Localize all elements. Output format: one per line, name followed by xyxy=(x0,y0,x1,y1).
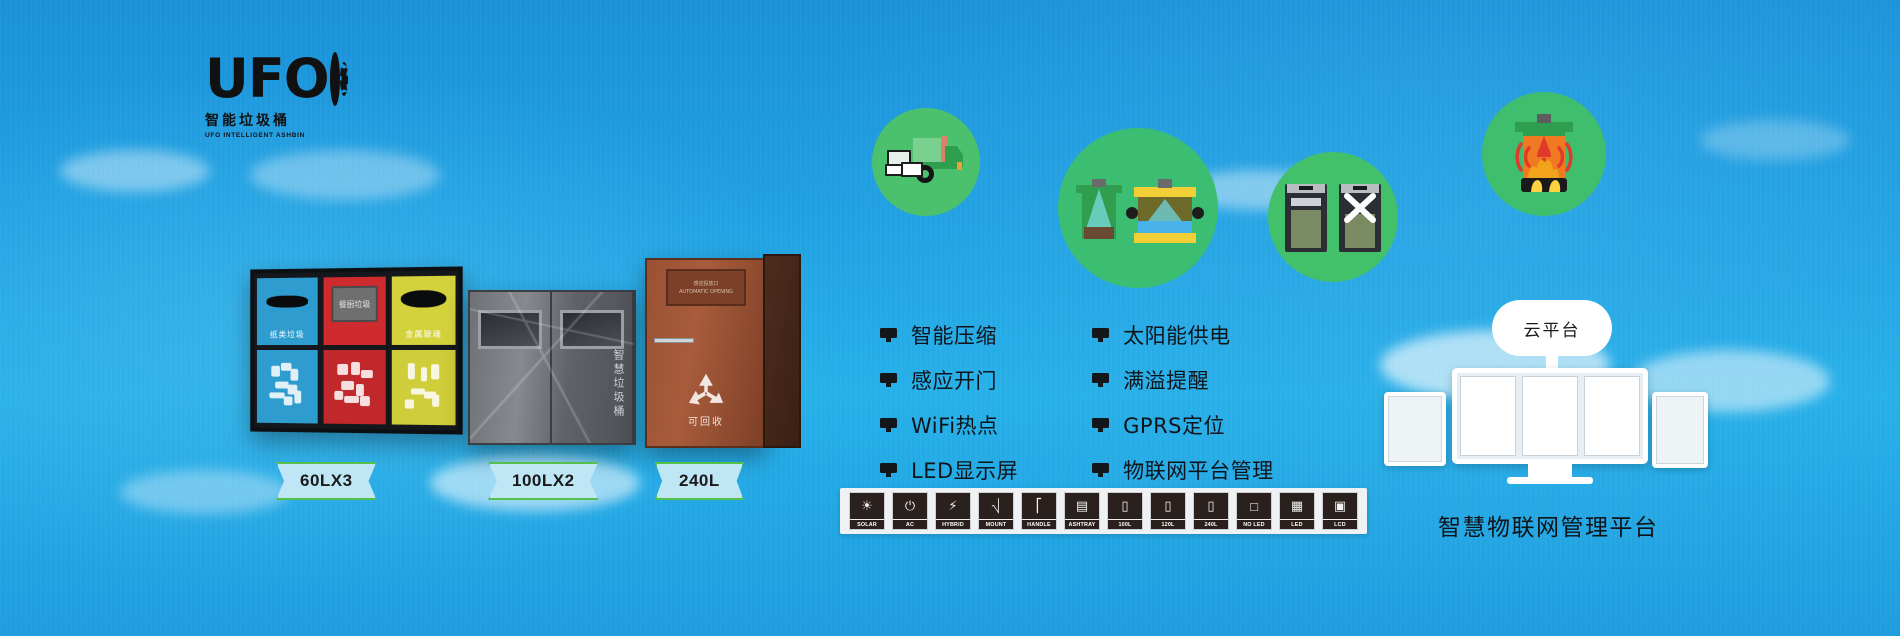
compartment-top-metal-glass: 金属玻璃 xyxy=(392,276,456,345)
product-recycling-bin[interactable]: 感应投放口 AUTOMATIC OPENING 可回收 xyxy=(645,258,767,448)
spec-icon-ac[interactable]: ⏻ AC xyxy=(892,492,928,530)
spec-icon-ashtray[interactable]: ▤ ASHTRAY xyxy=(1064,492,1100,530)
spec-icon-label: LCD xyxy=(1323,519,1357,529)
spec-icon-label: AC xyxy=(893,519,927,529)
capacity-tag-240l: 240L xyxy=(655,462,744,500)
spec-icon-label: 240L xyxy=(1194,519,1228,529)
spec-icon-lcd[interactable]: ▣ LCD xyxy=(1322,492,1358,530)
feature-label: LED显示屏 xyxy=(911,455,1018,485)
panel-line-2: AUTOMATIC OPENING xyxy=(679,289,733,295)
bin-compartment-paper: 纸类垃圾 xyxy=(257,277,318,423)
spec-icon-label: HANDLE xyxy=(1022,519,1056,529)
recycle-symbol-icon xyxy=(685,372,727,408)
spec-icon-led[interactable]: ▦ LED xyxy=(1279,492,1315,530)
plug-icon: ⏻ xyxy=(893,493,927,519)
feature-label: 太阳能供电 xyxy=(1123,320,1231,350)
tablet-device-left xyxy=(1384,392,1446,466)
spec-icon-hybrid[interactable]: ⚡ HYBRID xyxy=(935,492,971,530)
feature-list: 智能压缩 感应开门 WiFi热点 LED显示屏 太阳能供电 满溢提醒 xyxy=(880,320,1274,485)
feature-item: 太阳能供电 xyxy=(1092,320,1274,350)
feature-item: 物联网平台管理 xyxy=(1092,455,1274,485)
compartment-top-paper: 纸类垃圾 xyxy=(257,277,318,344)
dashboard-chart-panel xyxy=(1522,376,1578,456)
feature-item: LED显示屏 xyxy=(880,455,1018,485)
monitor-bullet-icon xyxy=(880,463,897,477)
lcd-icon: ▣ xyxy=(1323,493,1357,519)
cloud-decoration xyxy=(1700,120,1850,160)
feature-item: 满溢提醒 xyxy=(1092,365,1274,395)
dashboard-stats-panel xyxy=(1584,376,1640,456)
spec-icon-mount[interactable]: ⎷ MOUNT xyxy=(978,492,1014,530)
hybrid-power-icon: ⚡ xyxy=(936,493,970,519)
handle-icon: ⎡ xyxy=(1022,493,1056,519)
waste-illustration xyxy=(392,350,456,426)
sensor-panel: 感应投放口 AUTOMATIC OPENING xyxy=(666,269,746,306)
surface-highlight xyxy=(470,292,634,443)
feature-item: WiFi热点 xyxy=(880,410,1018,440)
product-three-color-bin[interactable]: 纸类垃圾 餐厨垃圾 xyxy=(250,266,462,434)
monitor-bullet-icon xyxy=(1092,373,1109,387)
feature-column-right: 太阳能供电 满溢提醒 GPRS定位 物联网平台管理 xyxy=(1092,320,1274,485)
smart-bin-body: 智慧垃圾桶 xyxy=(468,290,636,445)
spec-icon-label: SOLAR xyxy=(850,519,884,529)
feature-label: 感应开门 xyxy=(911,365,997,395)
drop-slot-icon xyxy=(401,290,447,308)
spec-icon-handle[interactable]: ⎡ HANDLE xyxy=(1021,492,1057,530)
monitor-bullet-icon xyxy=(880,328,897,342)
compartment-graphic-paper xyxy=(257,350,318,424)
logo-wordmark: UFO xyxy=(205,52,325,106)
truck-dashboard-icon xyxy=(872,108,980,216)
illustration-waste-compaction xyxy=(1268,152,1398,282)
waste-illustration xyxy=(324,350,386,425)
spec-icon-label: 100L xyxy=(1108,519,1142,529)
logo-chinese-name: 智能垃圾桶 xyxy=(205,110,325,130)
spec-icon-label: 120L xyxy=(1151,519,1185,529)
spec-icon-label: MOUNT xyxy=(979,519,1013,529)
spec-icon-label: NO LED xyxy=(1237,519,1271,529)
spec-icon-240l[interactable]: ▯ 240L xyxy=(1193,492,1229,530)
recycling-bin-body: 感应投放口 AUTOMATIC OPENING 可回收 xyxy=(645,258,767,448)
led-icon: ▦ xyxy=(1280,493,1314,519)
illustration-fill-level-sensor xyxy=(1058,128,1218,288)
bin-100l-icon: ▯ xyxy=(1108,493,1142,519)
bin-240l-icon: ▯ xyxy=(1194,493,1228,519)
waste-illustration xyxy=(257,350,318,424)
monitor-base xyxy=(1507,477,1593,484)
monitor-screen xyxy=(1452,368,1648,464)
spec-icon-label: HYBRID xyxy=(936,519,970,529)
cloud-platform-tag: 云平台 xyxy=(1492,300,1612,356)
spec-icon-solar[interactable]: ☀ SOLAR xyxy=(849,492,885,530)
cloud-decoration xyxy=(250,150,440,200)
feature-label: GPRS定位 xyxy=(1123,410,1225,440)
product-banner: UFO 智能垃圾桶 UFO INTELLIGENT ASHBIN 纸类垃圾 xyxy=(0,0,1900,636)
feature-item: 感应开门 xyxy=(880,365,1018,395)
capacity-tag-60lx3: 60LX3 xyxy=(276,462,377,500)
logo-text: UFO xyxy=(205,52,329,106)
spec-icon-120l[interactable]: ▯ 120L xyxy=(1150,492,1186,530)
tablet-screen xyxy=(1656,396,1704,464)
bin-120l-icon: ▯ xyxy=(1151,493,1185,519)
spec-icon-100l[interactable]: ▯ 100L xyxy=(1107,492,1143,530)
cloud-platform-label: 云平台 xyxy=(1492,300,1612,356)
cloud-decoration xyxy=(120,470,290,514)
drop-slot-icon xyxy=(267,295,308,307)
bin-compartment-kitchen: 餐厨垃圾 xyxy=(324,277,386,425)
three-color-bin-frame: 纸类垃圾 餐厨垃圾 xyxy=(250,266,462,434)
compartment-label: 餐厨垃圾 xyxy=(331,286,378,322)
feature-label: 智能压缩 xyxy=(911,320,997,350)
illustration-fire-alarm xyxy=(1482,92,1606,216)
logo-circle-icon xyxy=(330,52,340,106)
compartment-graphic-kitchen xyxy=(324,350,386,425)
spec-icon-label: LED xyxy=(1280,519,1314,529)
feature-item: GPRS定位 xyxy=(1092,410,1274,440)
product-smart-bin-double[interactable]: 智慧垃圾桶 xyxy=(468,290,636,445)
tablet-device-right xyxy=(1652,392,1708,468)
feature-item: 智能压缩 xyxy=(880,320,1018,350)
bin-compartment-metal-glass: 金属玻璃 xyxy=(392,276,456,426)
platform-caption: 智慧物联网管理平台 xyxy=(1438,508,1659,542)
tablet-screen xyxy=(1388,396,1442,462)
compartment-label: 纸类垃圾 xyxy=(257,329,318,340)
no-led-icon: □ xyxy=(1237,493,1271,519)
fill-level-icon xyxy=(1058,128,1218,288)
recycling-bin-label: 可回收 xyxy=(647,413,765,428)
monitor-bullet-icon xyxy=(1092,328,1109,342)
wall-mount-icon: ⎷ xyxy=(979,493,1013,519)
compartment-graphic-metal-glass xyxy=(392,350,456,426)
compartment-top-kitchen: 餐厨垃圾 xyxy=(324,277,386,345)
spec-icon-no-led[interactable]: □ NO LED xyxy=(1236,492,1272,530)
cloud-decoration xyxy=(60,150,210,192)
compartment-label: 金属玻璃 xyxy=(392,328,456,339)
sun-icon: ☀ xyxy=(850,493,884,519)
panel-line-1: 感应投放口 xyxy=(693,280,718,287)
monitor-bullet-icon xyxy=(1092,463,1109,477)
recycling-bin-side-panel xyxy=(763,254,801,448)
feature-label: 物联网平台管理 xyxy=(1123,455,1274,485)
monitor-bullet-icon xyxy=(1092,418,1109,432)
compaction-icon xyxy=(1268,152,1398,282)
illustration-collection-truck xyxy=(872,108,980,216)
feature-label: 满溢提醒 xyxy=(1123,365,1209,395)
brand-logo: UFO 智能垃圾桶 UFO INTELLIGENT ASHBIN xyxy=(205,52,325,152)
capacity-tag-100lx2: 100LX2 xyxy=(488,462,599,500)
feature-column-left: 智能压缩 感应开门 WiFi热点 LED显示屏 xyxy=(880,320,1018,485)
monitor-bullet-icon xyxy=(880,373,897,387)
logo-english-name: UFO INTELLIGENT ASHBIN xyxy=(205,132,325,139)
ashtray-icon: ▤ xyxy=(1065,493,1099,519)
status-strip xyxy=(654,338,694,343)
spec-icon-label: ASHTRAY xyxy=(1065,519,1099,529)
spec-icon-strip: ☀ SOLAR ⏻ AC ⚡ HYBRID ⎷ MOUNT ⎡ HANDLE ▤… xyxy=(840,488,1367,534)
dashboard-map-panel xyxy=(1460,376,1516,456)
fire-alarm-icon xyxy=(1482,92,1606,216)
feature-label: WiFi热点 xyxy=(911,410,999,440)
desktop-monitor xyxy=(1452,368,1648,486)
monitor-bullet-icon xyxy=(880,418,897,432)
monitor-stand xyxy=(1528,464,1572,477)
